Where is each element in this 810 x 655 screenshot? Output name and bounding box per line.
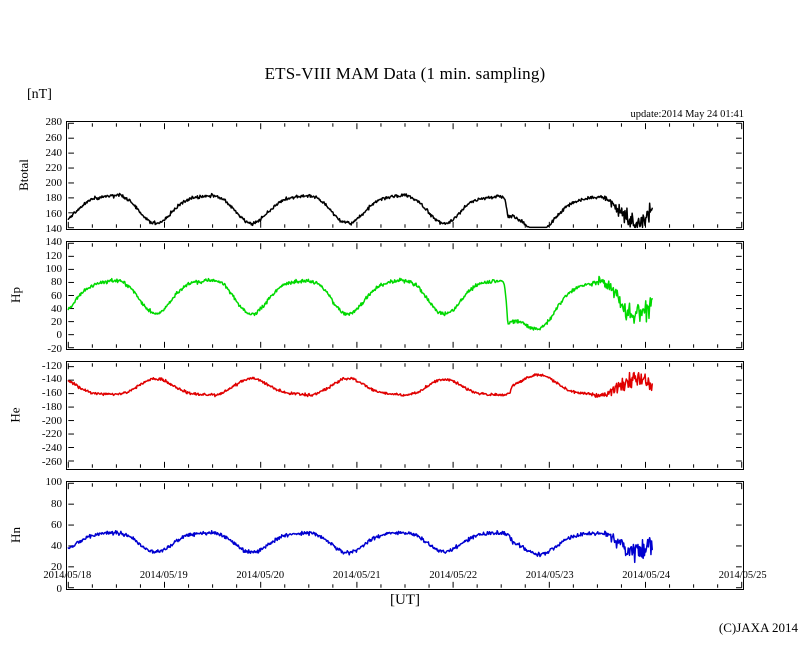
trace-hp [67, 242, 743, 349]
x-tick-label: 2014/05/21 [333, 570, 381, 581]
trace-btotal [67, 122, 743, 229]
y-axis-label-text: He [8, 407, 24, 422]
x-tick-label: 2014/05/24 [622, 570, 670, 581]
y-tick-label: 40 [51, 540, 62, 552]
y-unit-label: [nT] [27, 87, 52, 103]
y-axis-label-text: Hp [8, 287, 24, 303]
y-tick-label: -160 [42, 387, 62, 399]
y-axis-label-text: Btotal [16, 159, 32, 191]
y-tick-label: 40 [51, 303, 62, 315]
y-tick-label: -220 [42, 428, 62, 440]
y-tick-label: 80 [51, 498, 62, 510]
y-tick-label: -260 [42, 456, 62, 468]
x-axis-title: [UT] [0, 592, 810, 609]
y-tick-label: 140 [46, 223, 63, 235]
plot-panel-btotal [66, 121, 744, 230]
y-tick-label: 160 [46, 208, 63, 220]
trace-he [67, 362, 743, 469]
y-tick-label: 80 [51, 276, 62, 288]
y-tick-label: -240 [42, 442, 62, 454]
y-axis-label-hn: Hn [8, 527, 24, 543]
y-tick-label: -120 [42, 360, 62, 372]
plot-panel-he [66, 361, 744, 470]
y-tick-label: 200 [46, 177, 63, 189]
y-axis-label-text: Hn [8, 527, 24, 543]
x-tick-label: 2014/05/19 [140, 570, 188, 581]
y-tick-label: 180 [46, 192, 63, 204]
plot-panel-hp [66, 241, 744, 350]
copyright-notice: (C)JAXA 2014 [719, 620, 798, 636]
y-tick-label: 0 [57, 583, 63, 595]
x-tick-label: 2014/05/20 [236, 570, 284, 581]
y-tick-label: 140 [46, 236, 63, 248]
x-tick-label: 2014/05/25 [719, 570, 767, 581]
update-timestamp: update:2014 May 24 01:41 [631, 109, 744, 120]
y-tick-label: 100 [46, 263, 63, 275]
x-tick-label: 2014/05/22 [429, 570, 477, 581]
y-tick-label: 60 [51, 290, 62, 302]
y-axis-label-hp: Hp [8, 287, 24, 303]
y-tick-label: 260 [46, 132, 63, 144]
y-tick-label: -20 [47, 343, 62, 355]
y-tick-label: 120 [46, 250, 63, 262]
y-tick-label: 240 [46, 147, 63, 159]
y-tick-label: -140 [42, 373, 62, 385]
y-tick-label: 60 [51, 519, 62, 531]
y-tick-label: 280 [46, 116, 63, 128]
y-axis-label-he: He [8, 407, 23, 423]
y-tick-label: 20 [51, 561, 62, 573]
y-tick-label: -200 [42, 415, 62, 427]
y-tick-label: 100 [46, 476, 63, 488]
x-tick-label: 2014/05/23 [526, 570, 574, 581]
y-tick-label: 20 [51, 316, 62, 328]
y-tick-label: 0 [57, 329, 63, 341]
x-axis-tick-labels: 2014/05/182014/05/192014/05/202014/05/21… [0, 570, 810, 588]
chart-page: ETS-VIII MAM Data (1 min. sampling) [nT]… [0, 0, 810, 655]
page-title: ETS-VIII MAM Data (1 min. sampling) [0, 64, 810, 84]
y-tick-label: 220 [46, 162, 63, 174]
y-axis-label-btotal: Btotal [8, 167, 40, 183]
y-tick-label: -180 [42, 401, 62, 413]
